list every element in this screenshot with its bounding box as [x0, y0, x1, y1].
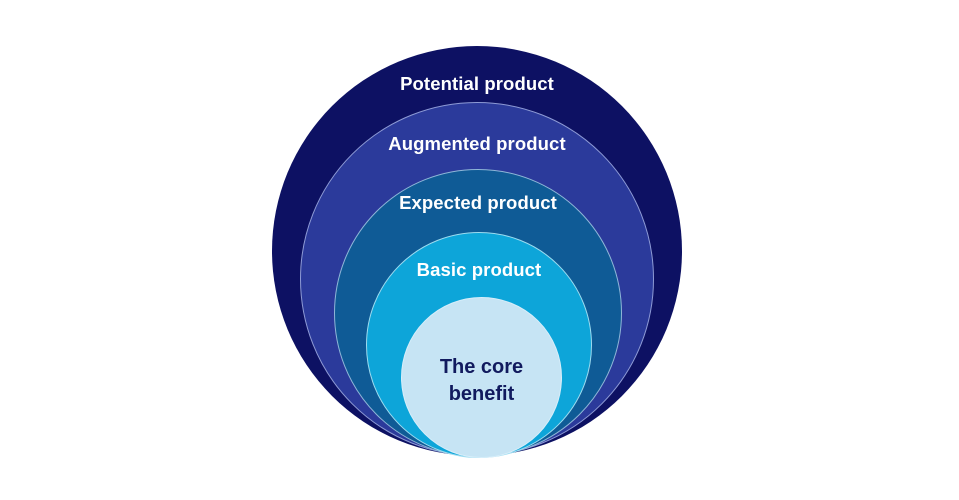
circle-core-benefit[interactable]: The core benefit — [401, 297, 562, 458]
label-basic-product: Basic product — [367, 259, 591, 280]
circle-augmented-product[interactable]: Augmented product Expected product Basic… — [300, 102, 654, 456]
circle-basic-product[interactable]: Basic product The core benefit — [366, 232, 592, 458]
label-potential-product: Potential product — [272, 73, 682, 94]
label-expected-product: Expected product — [335, 192, 621, 213]
label-core-benefit: The core benefit — [402, 354, 561, 407]
circle-potential-product[interactable]: Potential product Augmented product Expe… — [272, 46, 682, 456]
diagram-canvas: Potential product Augmented product Expe… — [0, 0, 959, 500]
circle-expected-product[interactable]: Expected product Basic product The core … — [334, 169, 622, 457]
label-core-benefit-line1: The core — [402, 354, 561, 381]
label-augmented-product: Augmented product — [301, 133, 653, 154]
product-levels-diagram: Potential product Augmented product Expe… — [0, 0, 959, 500]
label-core-benefit-line2: benefit — [402, 381, 561, 408]
